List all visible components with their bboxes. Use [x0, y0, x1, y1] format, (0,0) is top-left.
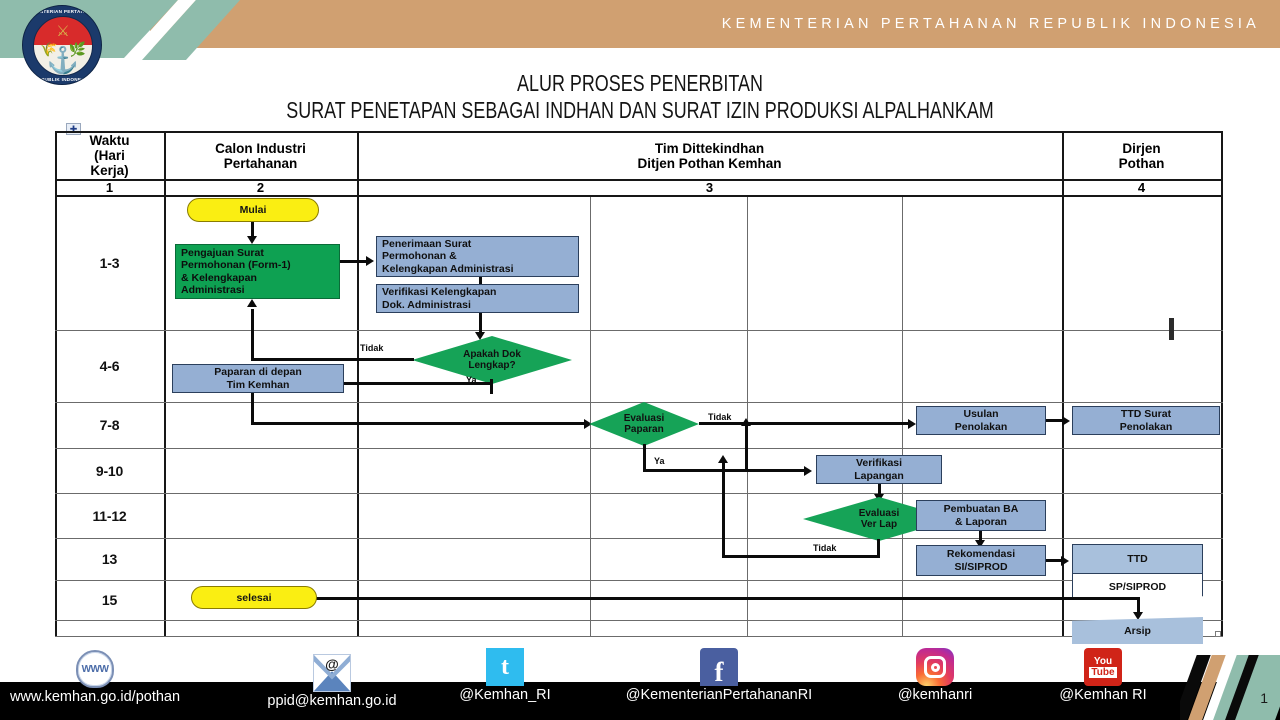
edge-mulai-pengajuan-arrow — [247, 236, 257, 244]
edge-mulai-pengajuan-line — [251, 222, 254, 237]
label-ya-2: Ya — [654, 456, 665, 466]
node-sp-siprod[interactable]: SP/SIPROD — [1072, 573, 1203, 600]
youtube-you: You — [1094, 656, 1112, 667]
node-rekomendasi-si-siprod[interactable]: Rekomendasi SI/SIPROD — [916, 545, 1046, 576]
header-dirjen-l2: Pothan — [1119, 156, 1165, 171]
node-paparan-l1: Paparan di depan — [214, 366, 302, 379]
time-row-7-8: 7-8 — [56, 402, 163, 448]
slide-title-line1: ALUR PROSES PENERBITAN — [141, 70, 1139, 96]
header-tim-dittekindhan: Tim Dittekindhan Ditjen Pothan Kemhan — [358, 132, 1061, 179]
footer-label-website: www.kemhan.go.id/pothan — [10, 689, 180, 705]
node-usulan-l2: Penolakan — [955, 421, 1008, 434]
footer-stripes — [1180, 655, 1280, 720]
edge-siprod-selesai-h — [217, 597, 1139, 600]
node-usulan-l1: Usulan — [963, 408, 998, 421]
node-ttd-surat-penolakan[interactable]: TTD Surat Penolakan — [1072, 406, 1220, 435]
node-evaluasi-paparan-l2: Paparan — [624, 424, 663, 436]
node-verifikasi-dok[interactable]: Verifikasi Kelengkapan Dok. Administrasi — [376, 284, 579, 313]
node-pembuatan-l1: Pembuatan BA — [944, 503, 1019, 516]
grid-h-bottom — [55, 636, 1223, 637]
edge-ya2-arrow — [804, 466, 812, 476]
www-text: WWW — [82, 664, 109, 675]
node-evaluasi-verlap-l2: Ver Lap — [861, 519, 897, 531]
edge-tidak1-arrow — [247, 299, 257, 307]
time-row-1-3: 1-3 — [56, 195, 163, 330]
node-ttd-surat-l1: TTD Surat — [1121, 408, 1171, 421]
grid-h-r5 — [55, 538, 1223, 539]
logo-ring-top-text: KEMENTERIAN PERTAHANAN — [23, 9, 101, 14]
node-evaluasi-paparan[interactable]: Evaluasi Paparan — [589, 402, 699, 446]
node-apakah-dok-l2: Lengkap? — [468, 360, 515, 372]
footer-item-youtube[interactable]: You Tube @Kemhan RI — [1035, 648, 1171, 703]
slide-title-line2: SURAT PENETAPAN SEBAGAI INDHAN DAN SURAT… — [141, 96, 1139, 124]
twitter-glyph: t — [501, 654, 509, 681]
time-row-4-6: 4-6 — [56, 330, 163, 402]
edge-ya2-h — [643, 469, 809, 472]
header-tim-l2: Ditjen Pothan Kemhan — [637, 156, 781, 171]
footer-label-twitter: @Kemhan_RI — [459, 687, 550, 703]
header-calon-industri: Calon Industri Pertahanan — [165, 132, 356, 179]
ministry-title: KEMENTERIAN PERTAHANAN REPUBLIK INDONESI… — [430, 0, 1260, 48]
header-dirjen-pothan: Dirjen Pothan — [1063, 132, 1220, 179]
footer-label-youtube: @Kemhan RI — [1059, 687, 1146, 703]
node-pengajuan-l4: Administrasi — [181, 284, 245, 297]
label-tidak-2: Tidak — [708, 412, 731, 422]
edge-pengajuan-penerimaan-line — [340, 260, 367, 263]
time-row-9-10: 9-10 — [56, 448, 163, 493]
node-usulan-penolakan[interactable]: Usulan Penolakan — [916, 406, 1046, 435]
garuda-icon: ⚔ — [56, 24, 69, 39]
youtube-tube: Tube — [1089, 667, 1116, 678]
node-verifikasi-lapangan[interactable]: Verifikasi Lapangan — [816, 455, 942, 484]
selection-square[interactable] — [1215, 631, 1221, 637]
grid-v-3 — [590, 195, 591, 637]
flowchart-table: Waktu (Hari Kerja) Calon Industri Pertah… — [55, 131, 1223, 637]
node-pembuatan-ba[interactable]: Pembuatan BA & Laporan — [916, 500, 1046, 531]
instagram-frame — [924, 656, 946, 678]
edge-tidak1-h — [251, 358, 414, 361]
grid-v-1 — [164, 131, 166, 637]
node-arsip[interactable]: Arsip — [1072, 617, 1203, 644]
edge-paparan-v — [251, 393, 254, 425]
node-ttd-surat-l2: Penolakan — [1120, 421, 1173, 434]
label-tidak-3: Tidak — [813, 543, 836, 553]
instagram-lens — [931, 663, 940, 672]
node-verifikasi-dok-l2: Dok. Administrasi — [382, 299, 471, 312]
header-waktu-l1: Waktu — [90, 133, 130, 148]
facebook-icon: f — [700, 648, 738, 686]
footer-item-twitter[interactable]: t @Kemhan_RI — [441, 648, 569, 703]
node-pengajuan-l3: & Kelengkapan — [181, 272, 257, 285]
node-pembuatan-l2: & Laporan — [955, 516, 1007, 529]
footer-item-email[interactable]: @ ppid@kemhan.go.id — [253, 650, 411, 709]
node-verifikasi-lap-l2: Lapangan — [854, 470, 904, 483]
node-evaluasi-paparan-l1: Evaluasi — [624, 413, 665, 425]
grid-h-r4 — [55, 493, 1223, 494]
footer-item-website[interactable]: WWW www.kemhan.go.id/pothan — [36, 650, 154, 705]
page-header: KEMENTERIAN PERTAHANAN REPUBLIK INDONESI… — [0, 0, 1280, 48]
page-number: 1 — [1260, 690, 1268, 706]
instagram-icon — [916, 648, 954, 686]
node-paparan-l2: Tim Kemhan — [227, 379, 290, 392]
edge-pengajuan-penerimaan-arrow — [366, 256, 374, 266]
grid-v-4 — [747, 195, 748, 637]
node-pengajuan-surat[interactable]: Pengajuan Surat Permohonan (Form-1) & Ke… — [175, 244, 340, 299]
node-selesai[interactable]: selesai — [191, 586, 317, 609]
colnum-1: 1 — [56, 180, 163, 195]
node-penerimaan-l3: Kelengkapan Administrasi — [382, 263, 513, 276]
edge-feedback-riser-arrow — [741, 418, 751, 426]
header-waktu-l3: Kerja) — [90, 163, 128, 178]
edge-tidak3-arrow — [718, 455, 728, 463]
node-evaluasi-verlap-l1: Evaluasi — [859, 508, 900, 520]
time-row-13: 13 — [56, 538, 163, 580]
node-ttd[interactable]: TTD — [1072, 544, 1203, 574]
footer-label-email: ppid@kemhan.go.id — [267, 693, 396, 709]
colnum-2: 2 — [165, 180, 356, 195]
edge-tidak2-arrow — [908, 419, 916, 429]
node-rekomendasi-l1: Rekomendasi — [947, 548, 1015, 561]
node-penerimaan-l1: Penerimaan Surat — [382, 238, 471, 251]
email-envelope-icon: @ — [313, 654, 351, 692]
grid-h-r1 — [55, 330, 1223, 331]
slide-title: ALUR PROSES PENERBITAN SURAT PENETAPAN S… — [0, 70, 1280, 124]
time-row-15: 15 — [56, 580, 163, 620]
header-tim-l1: Tim Dittekindhan — [655, 141, 764, 156]
colnum-3: 3 — [358, 180, 1061, 195]
grid-h-r3 — [55, 448, 1223, 449]
edge-feedback-riser — [745, 425, 748, 471]
footer-label-instagram: @kemhanri — [898, 687, 972, 703]
node-pengajuan-l1: Pengajuan Surat — [181, 247, 264, 260]
grid-h-r2 — [55, 402, 1223, 403]
node-rekomendasi-l2: SI/SIPROD — [954, 561, 1007, 574]
at-glyph: @ — [314, 656, 350, 672]
grid-v-7 — [1221, 131, 1223, 637]
facebook-glyph: f — [715, 660, 724, 686]
label-tidak-1: Tidak — [360, 343, 383, 353]
node-paparan-tim-kemhan[interactable]: Paparan di depan Tim Kemhan — [172, 364, 344, 393]
logo-inner: ⚔ 🌾 🌿 ⚓ — [33, 16, 93, 76]
header-waktu: Waktu (Hari Kerja) — [56, 132, 163, 179]
node-verifikasi-lap-l1: Verifikasi — [856, 457, 902, 470]
edge-ya2-v — [643, 444, 646, 472]
header-calon-l2: Pertahanan — [224, 156, 298, 171]
grid-h-r6 — [55, 580, 1223, 581]
edge-rekomendasi-ttd-arrow — [1061, 556, 1069, 566]
edge-usulan-ttdsurat-arrow — [1062, 416, 1070, 426]
footer-item-facebook[interactable]: f @KementerianPertahananRI — [597, 648, 841, 703]
node-verifikasi-dok-l1: Verifikasi Kelengkapan — [382, 286, 496, 299]
node-pengajuan-l2: Permohonan (Form-1) — [181, 259, 291, 272]
node-mulai[interactable]: Mulai — [187, 198, 319, 222]
node-apakah-dok-l1: Apakah Dok — [463, 349, 521, 361]
header-dirjen-l1: Dirjen — [1122, 141, 1160, 156]
edge-paparan-h — [251, 422, 589, 425]
footer-label-facebook: @KementerianPertahananRI — [626, 687, 812, 703]
grid-v-5 — [902, 195, 903, 637]
footer-item-instagram[interactable]: @kemhanri — [869, 648, 1001, 703]
edge-tidak2-h — [699, 422, 913, 425]
edge-tidak3-v2 — [722, 463, 725, 558]
youtube-icon: You Tube — [1084, 648, 1122, 686]
edge-tidak1-v — [251, 309, 254, 359]
node-apakah-dok-lengkap[interactable]: Apakah Dok Lengkap? — [412, 336, 572, 384]
colnum-4: 4 — [1063, 180, 1220, 195]
twitter-icon: t — [486, 648, 524, 686]
edge-tidak3-h1 — [722, 555, 880, 558]
time-row-11-12: 11-12 — [56, 493, 163, 538]
header-waktu-l2: (Hari — [94, 148, 125, 163]
node-penerimaan-surat[interactable]: Penerimaan Surat Permohonan & Kelengkapa… — [376, 236, 579, 277]
grid-h-r7 — [55, 620, 1223, 621]
selection-handle[interactable] — [1169, 318, 1174, 340]
node-penerimaan-l2: Permohonan & — [382, 250, 457, 263]
grid-h-num — [55, 195, 1223, 197]
globe-www-icon: WWW — [76, 650, 114, 688]
header-calon-l1: Calon Industri — [215, 141, 306, 156]
